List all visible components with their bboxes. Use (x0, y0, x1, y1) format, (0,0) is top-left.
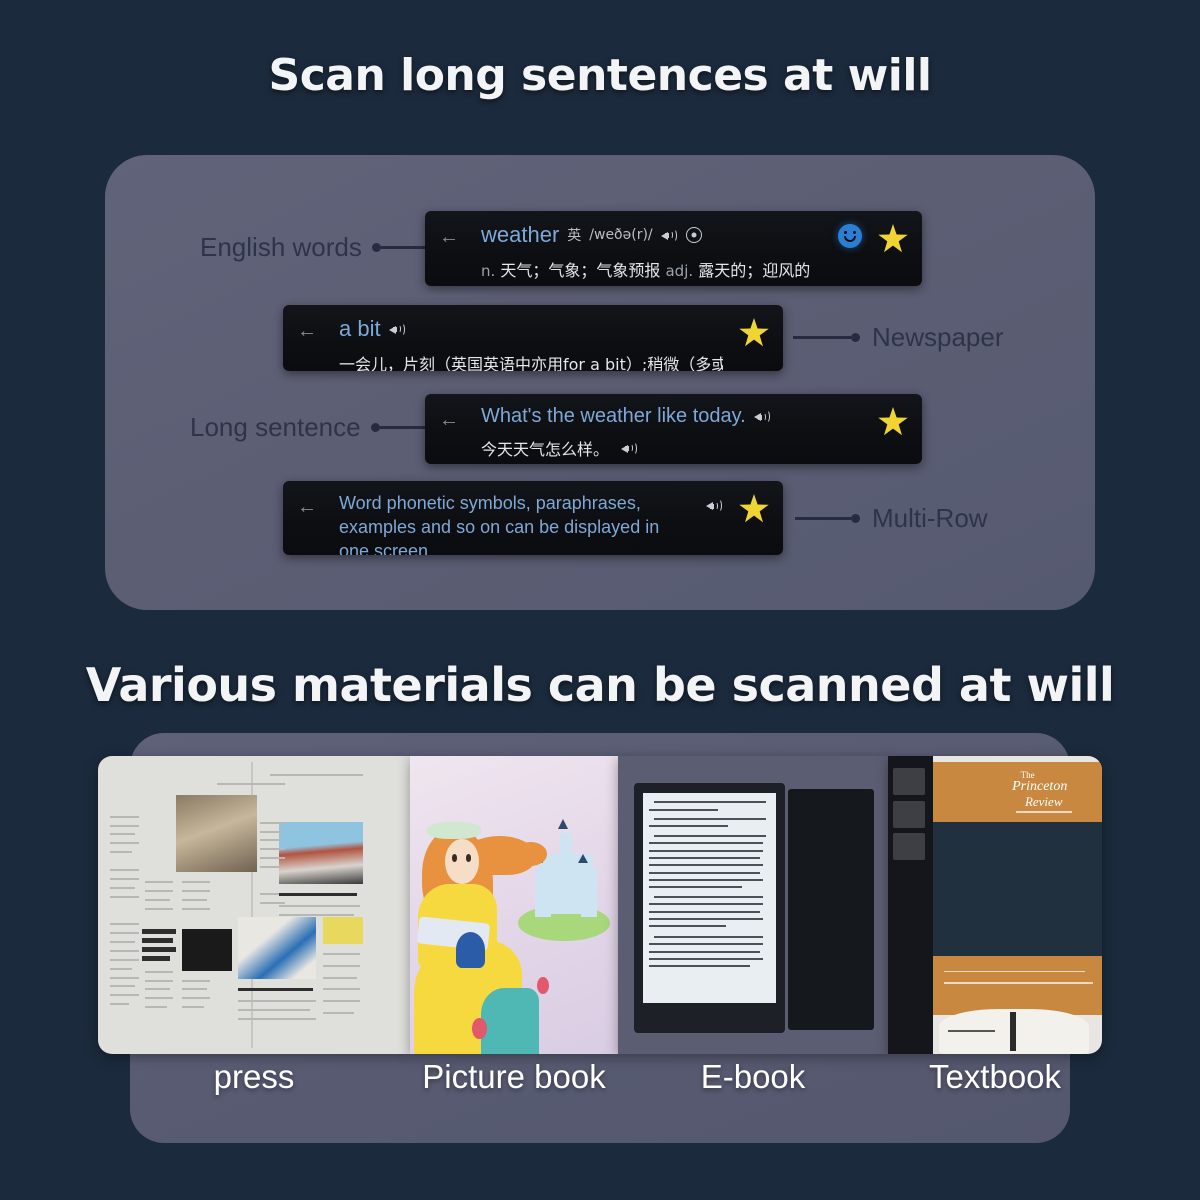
dictionary-card-multi-row[interactable]: ← Word phonetic symbols, paraphrases, ex… (283, 481, 783, 555)
callout-long-sentence: Long sentence (190, 412, 458, 443)
materials-thumbnail-row: The Princeton Review (98, 756, 1102, 1054)
callout-label-newspaper: Newspaper (872, 322, 1004, 353)
caption-ebook: E-book (618, 1058, 888, 1096)
card-action-icons (838, 224, 908, 254)
definition-adj: 露天的；迎风的 (698, 261, 810, 280)
e-reader-device-image (618, 756, 888, 1054)
star-icon[interactable] (878, 407, 908, 437)
callout-label-english-words: English words (200, 232, 362, 263)
speaker-icon[interactable] (706, 498, 723, 513)
page-title-secondary: Various materials can be scanned at will (0, 658, 1200, 712)
headword-text: What's the weather like today. (481, 405, 746, 428)
back-arrow-icon[interactable]: ← (439, 410, 455, 430)
definition-noun: 天气；气象；气象预报 (500, 261, 660, 280)
dictionary-card-sentence[interactable]: ← What's the weather like today. 今天天气怎么样… (425, 394, 922, 464)
phonetic-text: /weðə(r)/ (589, 227, 652, 243)
callout-line (795, 517, 851, 520)
card-headword-row: What's the weather like today. (481, 405, 862, 428)
callout-dot-icon (371, 423, 380, 432)
material-thumbnail-textbook[interactable]: The Princeton Review (888, 756, 1102, 1054)
caption-textbook: Textbook (888, 1058, 1102, 1096)
headword-text: weather (481, 222, 559, 248)
definition-text: 今天天气怎么样。 (481, 436, 609, 460)
eye-icon[interactable] (686, 227, 702, 243)
headword-text: a bit (339, 316, 381, 342)
textbook-brand-line-3: Review (1025, 795, 1063, 809)
speaker-icon[interactable] (389, 322, 406, 337)
speaker-icon[interactable] (621, 441, 638, 456)
definition-row: 今天天气怎么样。 (481, 436, 862, 460)
callout-newspaper: Newspaper (793, 322, 1004, 353)
callout-line (793, 336, 851, 339)
princess-castle-illustration-image (410, 756, 618, 1054)
material-thumbnail-press[interactable] (98, 756, 410, 1054)
back-arrow-icon[interactable]: ← (297, 497, 313, 517)
textbook-brand-line-2: Princeton (1012, 780, 1067, 795)
phonetic-region-label: 英 (567, 225, 581, 245)
card-headword-row: weather 英 /weðə(r)/ (481, 222, 822, 248)
callout-label-long-sentence: Long sentence (190, 412, 361, 443)
back-arrow-icon[interactable]: ← (297, 321, 313, 341)
dictionary-card-a-bit[interactable]: ← a bit 一会儿，片刻（英国英语中亦用for a bit）;稍微（多或少一 (283, 305, 783, 371)
material-thumbnail-picture-book[interactable] (410, 756, 618, 1054)
star-icon[interactable] (739, 494, 769, 524)
part-of-speech-adj: adj. (665, 262, 693, 280)
star-icon[interactable] (878, 224, 908, 254)
card-headword-row: a bit (339, 316, 723, 342)
product-feature-page: Scan long sentences at will English word… (0, 0, 1200, 1200)
card-action-icons (878, 407, 908, 437)
callout-dot-icon (851, 333, 860, 342)
caption-press: press (98, 1058, 410, 1096)
princeton-review-textbook-image: The Princeton Review (888, 756, 1102, 1054)
material-thumbnail-ebook[interactable] (618, 756, 888, 1054)
materials-caption-row: press Picture book E-book Textbook (98, 1058, 1102, 1096)
callout-dot-icon (851, 514, 860, 523)
card-body: a bit 一会儿，片刻（英国英语中亦用for a bit）;稍微（多或少一 (339, 316, 723, 371)
dictionary-card-weather[interactable]: ← weather 英 /weðə(r)/ n. 天气；气象；气象预报 adj.… (425, 211, 922, 286)
speaker-icon[interactable] (754, 409, 771, 424)
card-action-icons (739, 318, 769, 348)
part-of-speech-noun: n. (481, 262, 495, 280)
callout-english-words: English words (200, 232, 449, 263)
callout-multi-row: Multi-Row (795, 503, 988, 534)
back-arrow-icon[interactable]: ← (439, 227, 455, 247)
definition-text: 一会儿，片刻（英国英语中亦用for a bit）;稍微（多或少一 (339, 351, 723, 371)
speaker-icon[interactable] (661, 228, 678, 243)
card-body: What's the weather like today. 今天天气怎么样。 (481, 405, 862, 460)
definition-text: n. 天气；气象；气象预报 adj. 露天的；迎风的 (481, 257, 822, 281)
multiline-text: Word phonetic symbols, paraphrases, exam… (339, 492, 690, 555)
page-title-primary: Scan long sentences at will (0, 50, 1200, 101)
card-body: Word phonetic symbols, paraphrases, exam… (339, 492, 690, 555)
caption-picture-book: Picture book (410, 1058, 618, 1096)
callout-dot-icon (372, 243, 381, 252)
card-body: weather 英 /weðə(r)/ n. 天气；气象；气象预报 adj. 露… (481, 222, 822, 281)
emoji-icon[interactable] (838, 224, 862, 248)
card-action-icons (706, 494, 769, 524)
star-icon[interactable] (739, 318, 769, 348)
callout-label-multi-row: Multi-Row (872, 503, 988, 534)
newspaper-spread-image (98, 756, 410, 1054)
